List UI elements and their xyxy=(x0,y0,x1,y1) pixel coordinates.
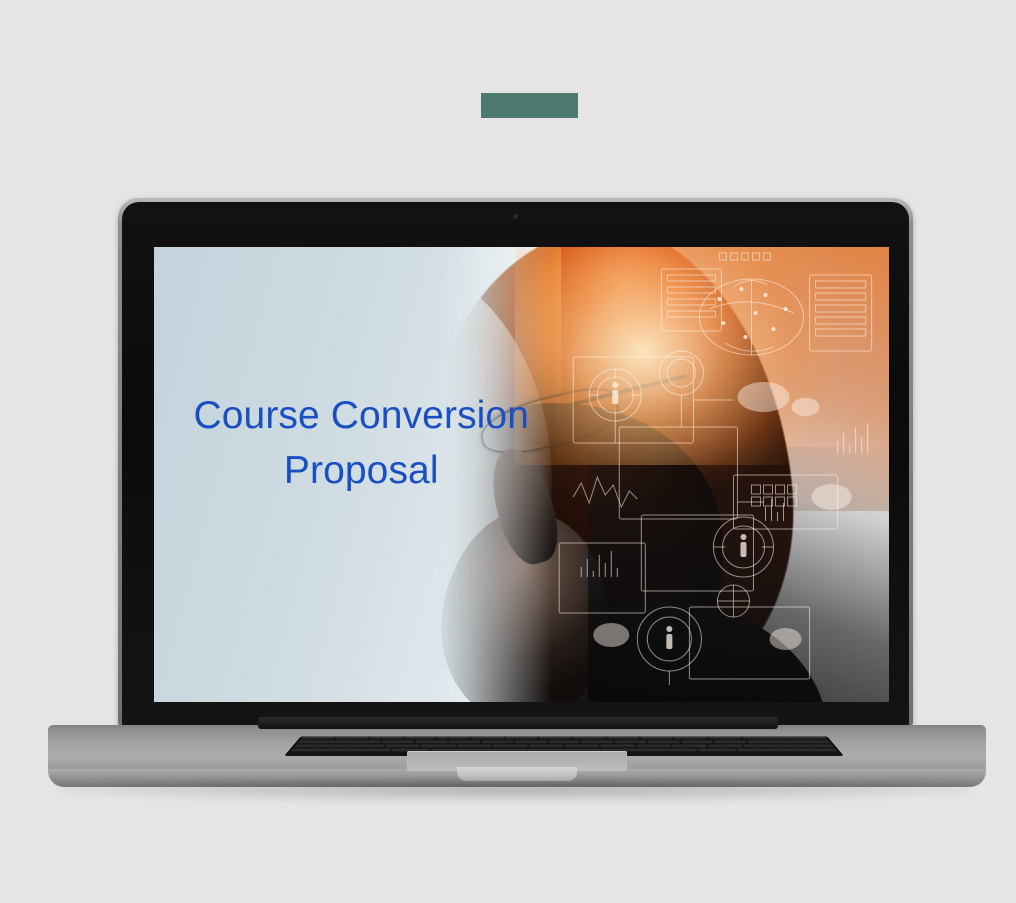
key xyxy=(641,737,674,740)
laptop-base xyxy=(48,725,986,787)
key xyxy=(672,745,707,748)
key xyxy=(493,745,527,748)
key xyxy=(457,745,492,748)
laptop-bezel: Course Conversion Proposal xyxy=(122,202,909,728)
key xyxy=(742,737,827,740)
laptop-drop-shadow xyxy=(60,780,970,802)
key xyxy=(648,741,680,744)
key xyxy=(335,737,369,740)
laptop-screen[interactable]: Course Conversion Proposal xyxy=(154,247,889,702)
key xyxy=(636,745,671,748)
key xyxy=(582,741,614,744)
key xyxy=(708,737,741,740)
key xyxy=(481,741,513,744)
slide-title: Course Conversion Proposal xyxy=(170,388,552,499)
slide-canvas: Course Conversion Proposal xyxy=(0,0,1016,903)
key xyxy=(294,745,384,748)
key xyxy=(448,741,480,744)
slide-title-line-2: Proposal xyxy=(170,443,552,498)
webcam-icon xyxy=(513,214,518,219)
key xyxy=(529,745,563,748)
key xyxy=(714,741,747,744)
key xyxy=(298,741,381,744)
key xyxy=(708,745,743,748)
laptop-hinge xyxy=(258,717,778,729)
laptop-mockup: Course Conversion Proposal xyxy=(0,180,1016,830)
key xyxy=(415,741,448,744)
key xyxy=(548,741,579,744)
key xyxy=(607,737,640,740)
key xyxy=(737,749,837,752)
keyboard-row xyxy=(298,736,831,740)
presentation-slide: Course Conversion Proposal xyxy=(154,247,889,702)
key xyxy=(301,737,335,740)
keyboard-row xyxy=(294,740,834,744)
key xyxy=(539,737,571,740)
key xyxy=(615,741,647,744)
key xyxy=(385,745,420,748)
key xyxy=(437,737,470,740)
laptop-front-notch xyxy=(457,767,577,781)
key xyxy=(744,745,834,748)
key xyxy=(601,745,635,748)
laptop-lid: Course Conversion Proposal xyxy=(118,198,913,728)
slide-title-line-1: Course Conversion xyxy=(170,388,552,443)
key xyxy=(403,737,436,740)
key xyxy=(747,741,830,744)
key xyxy=(421,745,456,748)
key xyxy=(681,741,714,744)
key xyxy=(369,737,403,740)
key xyxy=(565,745,599,748)
key xyxy=(505,737,537,740)
key xyxy=(471,737,504,740)
key xyxy=(515,741,547,744)
decorative-accent-bar xyxy=(481,93,578,118)
key xyxy=(674,737,707,740)
key xyxy=(291,749,391,752)
key xyxy=(698,749,737,752)
key xyxy=(573,737,605,740)
key xyxy=(381,741,414,744)
